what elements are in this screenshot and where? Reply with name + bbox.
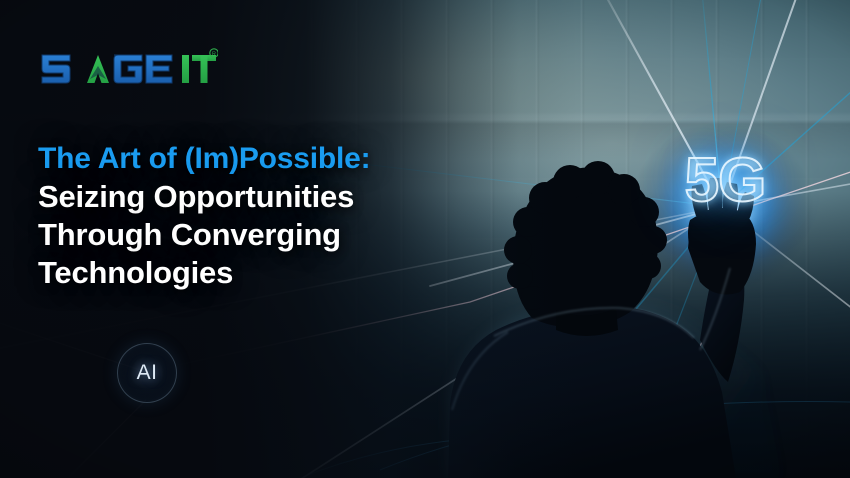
headline-block: The Art of (Im)Possible: Seizing Opportu… (38, 140, 468, 292)
registered-trademark-icon: R (210, 49, 218, 58)
svg-text:R: R (212, 52, 216, 58)
ai-network-node[interactable]: AI (117, 343, 177, 403)
hero-banner: 5G AI (0, 0, 850, 478)
ai-node-label: AI (137, 361, 158, 385)
sage-it-logo[interactable]: R (38, 46, 218, 90)
headline-line-2: Through Converging (38, 216, 468, 254)
sage-it-logo-mark: R (38, 46, 218, 90)
headline-line-1: Seizing Opportunities (38, 178, 468, 216)
headline-accent-line: The Art of (Im)Possible: (38, 140, 468, 178)
headline-line-3: Technologies (38, 254, 468, 292)
